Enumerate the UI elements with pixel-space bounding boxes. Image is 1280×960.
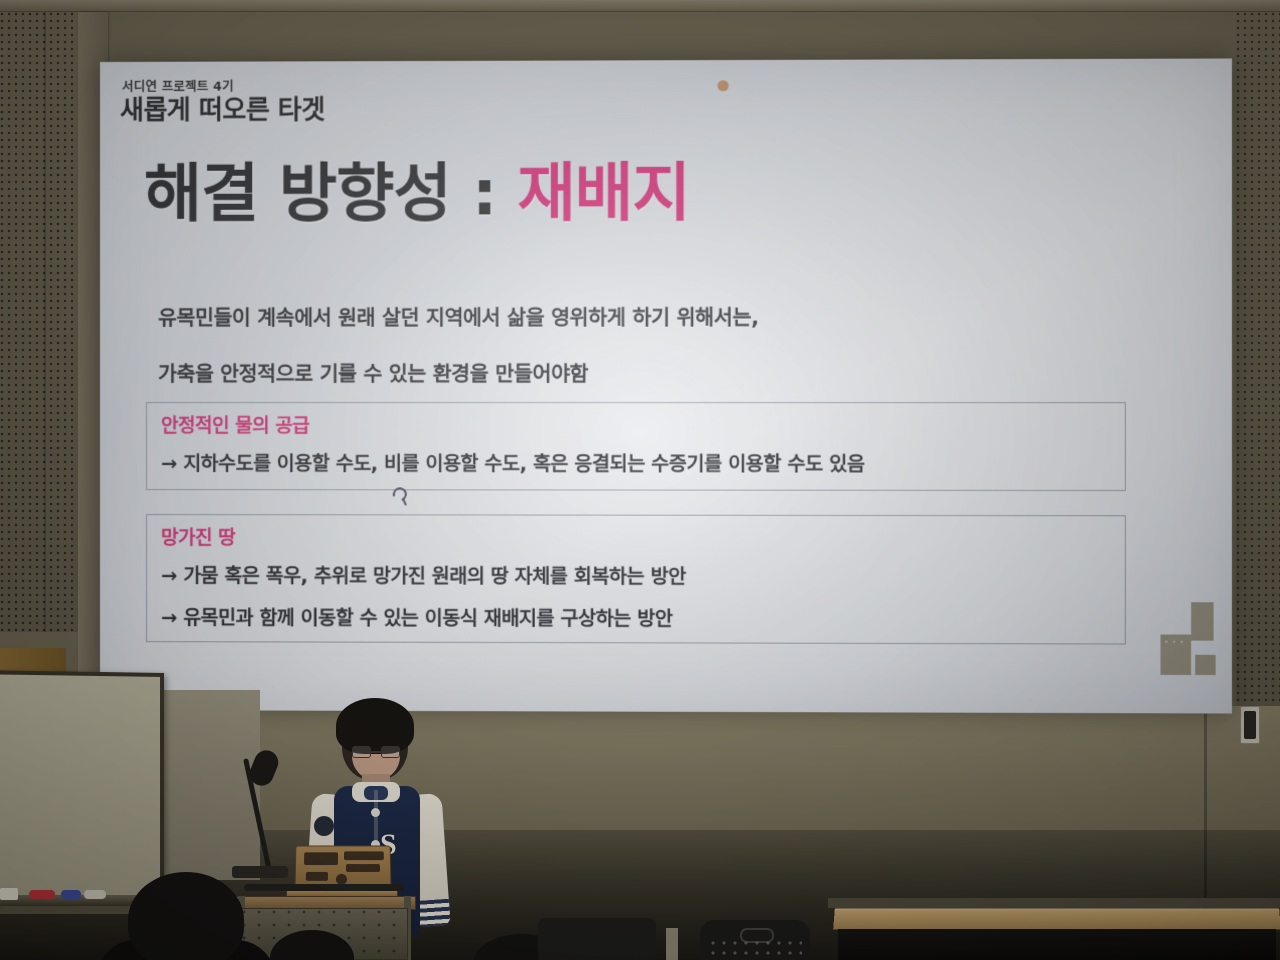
sleeve-cuff	[415, 899, 451, 927]
desk-back-edge	[828, 898, 1280, 908]
laptop-sticker	[346, 864, 380, 872]
lecture-desk-underside	[838, 929, 1276, 960]
microphone-base	[232, 866, 288, 878]
audience-head	[128, 872, 244, 960]
chair-perforation	[710, 940, 802, 960]
laptop-sticker	[344, 851, 384, 860]
stage-area: S	[0, 0, 1280, 960]
lecture-desk-top	[833, 908, 1280, 929]
glasses-lens-left	[352, 746, 371, 758]
jacket-button	[371, 808, 380, 817]
glasses-lens-right	[381, 746, 400, 758]
chair-divider	[666, 928, 678, 960]
laptop-sticker	[306, 872, 328, 881]
lecture-room-background: 서디연 프로젝트 4기 새롭게 떠오른 타겟 해결 방향성 : 재배지 유목민들…	[0, 0, 1280, 960]
lecture-chair	[538, 918, 656, 960]
podium-rail	[244, 884, 404, 891]
jacket-patch	[314, 816, 334, 836]
laptop-sticker	[304, 852, 338, 865]
glasses-icon	[352, 746, 400, 758]
